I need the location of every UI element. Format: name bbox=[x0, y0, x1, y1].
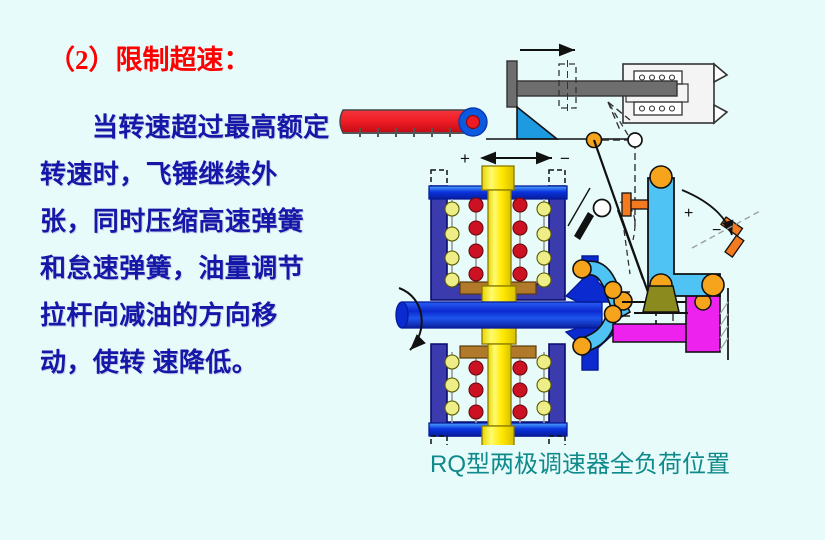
rack-plus-label: + bbox=[460, 149, 470, 168]
body-paragraph: 当转速超过最高额定转速时，飞锤继续外张，同时压缩高速弹簧和怠速弹簧，油量调节拉杆… bbox=[40, 104, 330, 386]
rod-shade-hatch bbox=[568, 188, 594, 240]
fuel-rack-bar bbox=[340, 110, 470, 137]
slide-canvas: （2）限制超速： 当转速超过最高额定转速时，飞锤继续外张，同时压缩高速弹簧和怠速… bbox=[0, 0, 825, 540]
fuel-rack-ring bbox=[459, 108, 487, 136]
text-column: （2）限制超速： 当转速超过最高额定转速时，飞锤继续外张，同时压缩高速弹簧和怠速… bbox=[0, 0, 340, 540]
figure-caption: RQ型两极调速器全负荷位置 bbox=[400, 448, 760, 482]
lever-plus-label: + bbox=[684, 205, 693, 222]
pivot-fork-lower[interactable] bbox=[573, 337, 591, 355]
pivot-lever-elbow[interactable] bbox=[702, 274, 724, 296]
page-title: （2）限制超速： bbox=[48, 38, 251, 77]
mid-rod-pivot bbox=[594, 200, 611, 217]
drive-shaft bbox=[396, 302, 602, 328]
blue-wedge bbox=[517, 107, 557, 139]
pivot-lever-top[interactable] bbox=[650, 166, 672, 188]
pivot-fork-upper[interactable] bbox=[573, 260, 591, 278]
lever-handle-ghost-icon bbox=[721, 217, 744, 257]
ghost-pivot-upper bbox=[628, 133, 642, 147]
governor-figure: + − bbox=[330, 30, 825, 445]
rack-direction-arrow: + − bbox=[460, 149, 570, 168]
rack-minus-label: − bbox=[560, 149, 570, 168]
lever-arc-arrow: + − bbox=[682, 190, 762, 248]
wall-hatching bbox=[720, 288, 728, 360]
